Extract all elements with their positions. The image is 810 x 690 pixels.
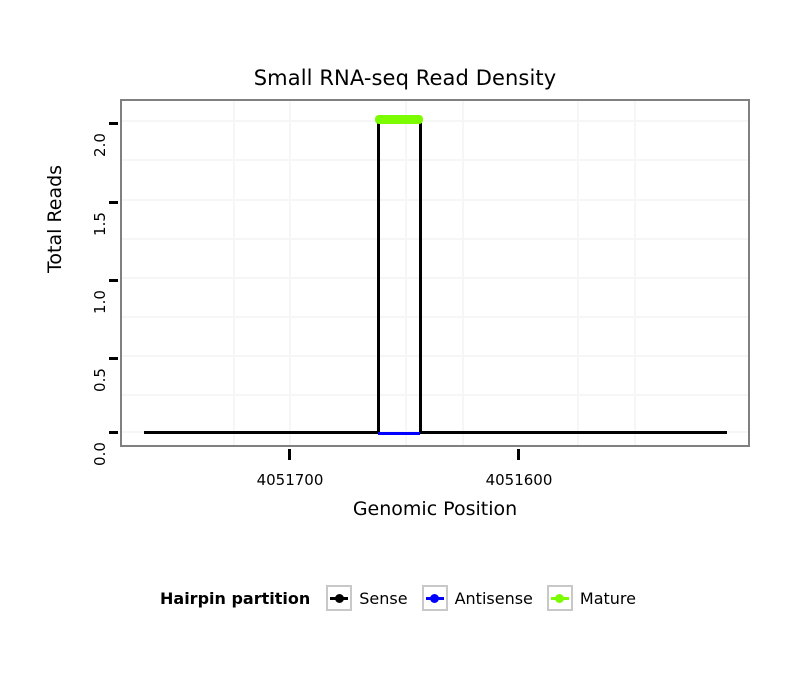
y-tick-mark bbox=[109, 122, 118, 125]
series-sense-baseline-left bbox=[144, 431, 380, 434]
x-tick-mark bbox=[288, 449, 291, 460]
gridline-horizontal bbox=[122, 316, 748, 318]
series-sense-riser-left bbox=[377, 120, 380, 434]
gridline-horizontal bbox=[122, 120, 748, 122]
gridline-horizontal bbox=[122, 159, 748, 161]
legend-key-mature bbox=[547, 585, 573, 611]
legend-dot-icon bbox=[430, 594, 439, 603]
gridline-vertical bbox=[405, 101, 407, 445]
series-sense-riser-right bbox=[419, 120, 422, 434]
y-tick-mark bbox=[109, 279, 118, 282]
chart-figure: Small RNA-seq Read Density Total Reads 0… bbox=[0, 0, 810, 690]
series-mature bbox=[375, 115, 423, 124]
x-axis-label: Genomic Position bbox=[120, 498, 750, 520]
gridline-horizontal bbox=[122, 238, 748, 240]
y-tick-mark bbox=[109, 357, 118, 360]
legend-dot-icon bbox=[335, 594, 344, 603]
gridline-horizontal bbox=[122, 394, 748, 396]
y-tick-label: 2.0 bbox=[91, 125, 109, 165]
gridline-horizontal bbox=[122, 199, 748, 201]
legend-item-sense[interactable]: Sense bbox=[326, 585, 407, 611]
legend-label-antisense: Antisense bbox=[455, 589, 533, 608]
series-sense-baseline-right bbox=[419, 431, 727, 434]
legend-dot-icon bbox=[555, 594, 564, 603]
legend-key-sense bbox=[326, 585, 352, 611]
legend-label-sense: Sense bbox=[359, 589, 407, 608]
gridline-horizontal bbox=[122, 277, 748, 279]
y-tick-mark bbox=[109, 431, 118, 434]
gridline-vertical bbox=[233, 101, 235, 445]
y-tick-label: 1.5 bbox=[91, 204, 109, 244]
plot-panel bbox=[120, 99, 750, 447]
y-axis-label: Total Reads bbox=[44, 165, 66, 273]
plot-area bbox=[122, 101, 748, 445]
y-tick-label: 0.5 bbox=[91, 360, 109, 400]
legend-key-antisense bbox=[422, 585, 448, 611]
legend-item-antisense[interactable]: Antisense bbox=[422, 585, 533, 611]
gridline-vertical bbox=[577, 101, 579, 445]
x-tick-mark bbox=[517, 449, 520, 460]
gridline-vertical bbox=[462, 101, 464, 445]
y-tick-mark bbox=[109, 201, 118, 204]
y-tick-label: 1.0 bbox=[91, 282, 109, 322]
y-tick-label: 0.0 bbox=[91, 434, 109, 474]
legend: Hairpin partition Sense Antisense Mature bbox=[0, 585, 810, 611]
series-antisense bbox=[378, 432, 420, 435]
x-tick-label: 4051700 bbox=[230, 471, 350, 489]
gridline-vertical bbox=[634, 101, 636, 445]
legend-item-mature[interactable]: Mature bbox=[547, 585, 636, 611]
chart-title: Small RNA-seq Read Density bbox=[0, 66, 810, 90]
legend-title: Hairpin partition bbox=[160, 589, 310, 608]
x-tick-label: 4051600 bbox=[459, 471, 579, 489]
legend-label-mature: Mature bbox=[580, 589, 636, 608]
gridline-horizontal bbox=[122, 355, 748, 357]
gridline-vertical bbox=[289, 101, 291, 445]
